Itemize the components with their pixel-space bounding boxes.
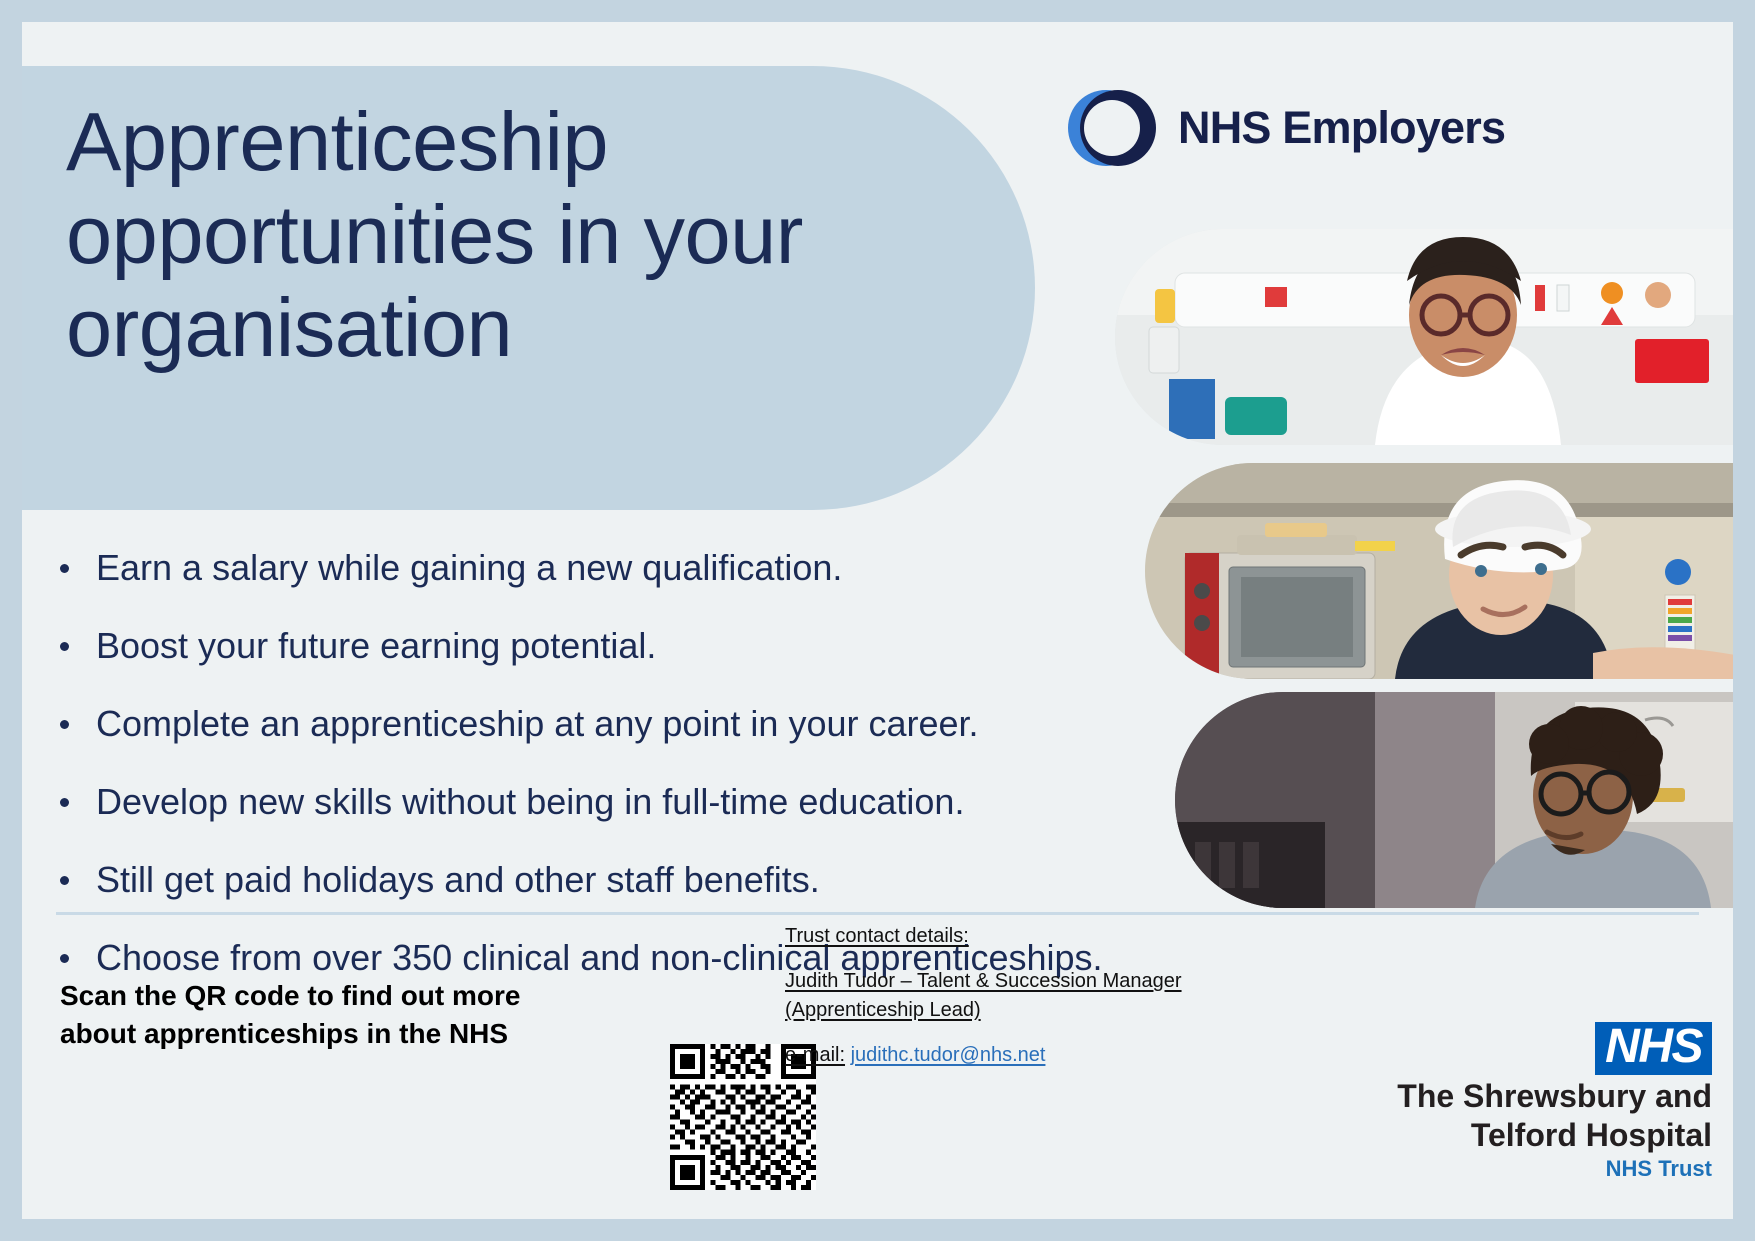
photo-catering-apprentice <box>1145 463 1733 679</box>
trust-subtitle: NHS Trust <box>1352 1156 1712 1182</box>
list-item: Develop new skills without being in full… <box>52 784 1212 820</box>
contact-name: Judith Tudor – Talent & Succession Manag… <box>785 970 1182 1021</box>
bullet-dot-icon <box>60 564 69 573</box>
list-item: Earn a salary while gaining a new qualif… <box>52 550 1212 586</box>
scan-instruction: Scan the QR code to find out more about … <box>60 977 590 1053</box>
email-label: e-mail: <box>785 1044 845 1066</box>
bullet-dot-icon <box>60 954 69 963</box>
bullet-dot-icon <box>60 642 69 651</box>
list-item: Still get paid holidays and other staff … <box>52 862 1212 898</box>
bullet-dot-icon <box>60 720 69 729</box>
list-item: Complete an apprenticeship at any point … <box>52 706 1212 742</box>
benefit-text: Still get paid holidays and other staff … <box>96 859 820 900</box>
photo-healthcare-worker <box>1115 229 1733 445</box>
list-item: Boost your future earning potential. <box>52 628 1212 664</box>
photo-office-apprentice <box>1175 692 1733 908</box>
trust-name-line-1: The Shrewsbury and <box>1352 1080 1712 1114</box>
poster-canvas: Apprenticeship opportunities in your org… <box>22 22 1733 1219</box>
page-title: Apprenticeship opportunities in your org… <box>66 96 996 375</box>
benefit-text: Earn a salary while gaining a new qualif… <box>96 547 842 588</box>
footer-divider <box>56 912 1699 915</box>
bullet-dot-icon <box>60 798 69 807</box>
trust-logo: NHS The Shrewsbury and Telford Hospital … <box>1352 1022 1712 1182</box>
benefit-text: Boost your future earning potential. <box>96 625 656 666</box>
nhs-employers-logo: NHS Employers <box>1068 90 1505 166</box>
nhs-employers-circles-icon <box>1068 90 1154 166</box>
email-link[interactable]: judithc.tudor@nhs.net <box>851 1044 1046 1066</box>
benefit-text: Develop new skills without being in full… <box>96 781 964 822</box>
nhs-employers-wordmark: NHS Employers <box>1178 102 1505 154</box>
contact-heading: Trust contact details: <box>785 925 969 947</box>
nhs-logo-mark: NHS <box>1595 1022 1712 1075</box>
trust-contact-block: Trust contact details: Judith Tudor – Ta… <box>785 922 1205 1086</box>
bullet-dot-icon <box>60 876 69 885</box>
benefit-text: Complete an apprenticeship at any point … <box>96 703 979 744</box>
trust-name-line-2: Telford Hospital <box>1352 1119 1712 1153</box>
